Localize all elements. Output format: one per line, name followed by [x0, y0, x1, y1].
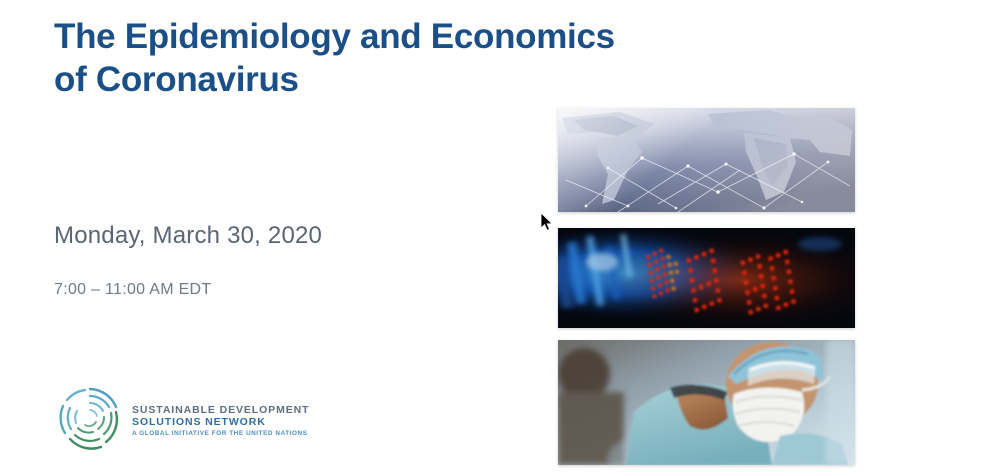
event-date: Monday, March 30, 2020	[54, 222, 322, 250]
sdsn-logo-text: SUSTAINABLE DEVELOPMENT SOLUTIONS NETWOR…	[132, 404, 309, 437]
healthcare-worker-photo	[558, 340, 855, 465]
sdsn-logo: SUSTAINABLE DEVELOPMENT SOLUTIONS NETWOR…	[54, 382, 264, 464]
mouse-pointer	[540, 212, 554, 232]
title-line-1: The Epidemiology and Economics	[54, 17, 615, 56]
world-map-network-photo	[558, 108, 855, 212]
page-title: The Epidemiology and Economics of Corona…	[54, 16, 754, 101]
presentation-slide: The Epidemiology and Economics of Corona…	[0, 0, 1000, 473]
logo-line-2: SOLUTIONS NETWORK	[132, 416, 309, 428]
logo-line-3: A GLOBAL INITIATIVE FOR THE UNITED NATIO…	[132, 430, 309, 438]
event-time: 7:00 – 11:00 AM EDT	[54, 281, 212, 299]
logo-line-1: SUSTAINABLE DEVELOPMENT	[132, 404, 309, 416]
sdsn-swirl-icon	[54, 382, 126, 454]
title-line-2: of Coronavirus	[54, 59, 754, 102]
stock-ticker-photo	[558, 228, 855, 328]
